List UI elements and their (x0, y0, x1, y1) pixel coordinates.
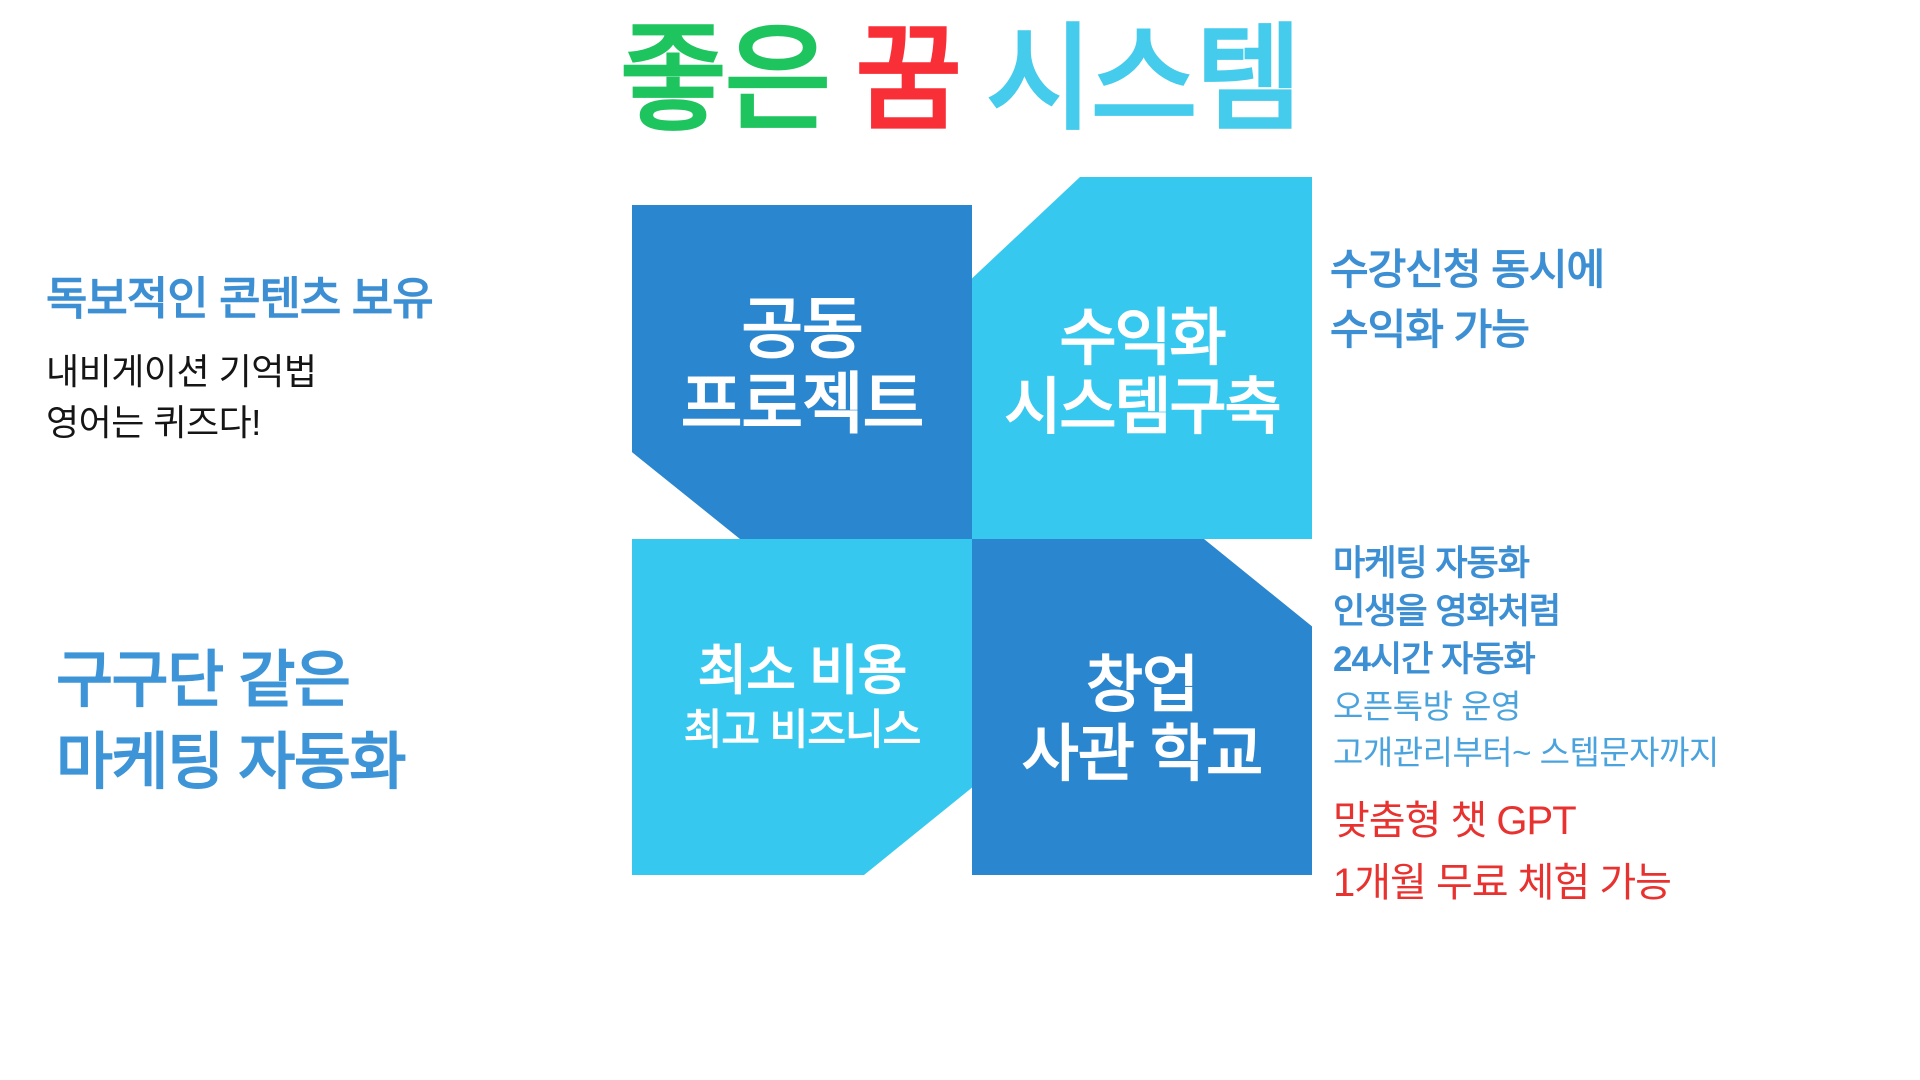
left-bottom-line-1: 구구단 같은 (56, 640, 405, 722)
slide-canvas: 좋은꿈시스템 독보적인 콘텐츠 보유 내비게이션 기억법 영어는 퀴즈다! 구구… (0, 0, 1920, 1080)
quadrant-startup-academy-line-2: 사관 학교 (1022, 720, 1262, 789)
left-subtext-line-2: 영어는 퀴즈다! (46, 397, 606, 448)
right-top-callout: 수강신청 동시에 수익화 가능 (1330, 240, 1604, 359)
right-feature-strong-3: 24시간 자동화 (1333, 636, 1719, 684)
quadrant-grid: 공동 프로젝트 수익화 시스템구축 최소 비용 최고 비즈니스 창업 사관 학교 (632, 205, 1312, 875)
left-subtext-line-1: 내비게이션 기억법 (46, 346, 606, 397)
right-top-line-2: 수익화 가능 (1330, 300, 1604, 360)
right-feature-strong-1: 마케팅 자동화 (1333, 540, 1719, 588)
right-promo-line-1: 맞춤형 챗 GPT (1333, 790, 1671, 852)
quadrant-revenue-system[interactable]: 수익화 시스템구축 (972, 177, 1312, 539)
right-feature-strong-2: 인생을 영화처럼 (1333, 588, 1719, 636)
right-promo-line-2: 1개월 무료 체험 가능 (1333, 852, 1671, 914)
quadrant-startup-academy-line-1: 창업 (1086, 651, 1198, 720)
left-text-column: 독보적인 콘텐츠 보유 내비게이션 기억법 영어는 퀴즈다! (46, 272, 606, 448)
left-bottom-highlight: 구구단 같은 마케팅 자동화 (56, 640, 405, 804)
quadrant-minimum-cost-line-1: 최소 비용 (698, 641, 907, 701)
left-heading: 독보적인 콘텐츠 보유 (46, 272, 606, 326)
quadrant-joint-project[interactable]: 공동 프로젝트 (632, 205, 972, 539)
quadrant-revenue-system-line-2: 시스템구축 (1004, 373, 1279, 442)
quadrant-startup-academy[interactable]: 창업 사관 학교 (972, 539, 1312, 875)
quadrant-joint-project-line-1: 공동 (741, 292, 862, 367)
quadrant-joint-project-line-2: 프로젝트 (681, 367, 924, 442)
right-top-line-1: 수강신청 동시에 (1330, 240, 1604, 300)
title-word-1: 좋은 (620, 14, 829, 144)
quadrant-revenue-system-line-1: 수익화 (1059, 304, 1224, 373)
right-feature-light-2: 고개관리부터~ 스텝문자까지 (1333, 730, 1719, 776)
title-word-3: 시스템 (986, 14, 1300, 144)
title-word-2: 꿈 (855, 14, 960, 144)
page-title: 좋은꿈시스템 (0, 16, 1920, 144)
quadrant-minimum-cost[interactable]: 최소 비용 최고 비즈니스 (632, 539, 972, 875)
right-feature-light-1: 오픈톡방 운영 (1333, 684, 1719, 730)
quadrant-minimum-cost-line-2: 최고 비즈니스 (684, 706, 921, 753)
left-bottom-line-2: 마케팅 자동화 (56, 722, 405, 804)
right-feature-list: 마케팅 자동화 인생을 영화처럼 24시간 자동화 오픈톡방 운영 고개관리부터… (1333, 540, 1719, 776)
left-subtext: 내비게이션 기억법 영어는 퀴즈다! (46, 346, 606, 448)
right-promo-callout: 맞춤형 챗 GPT 1개월 무료 체험 가능 (1333, 790, 1671, 914)
